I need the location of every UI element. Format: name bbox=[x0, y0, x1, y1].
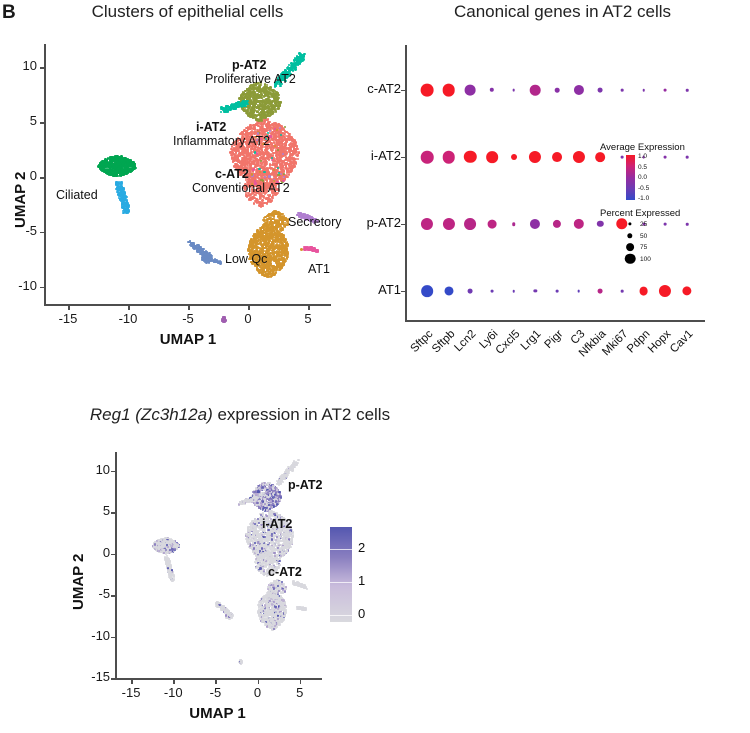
umap1-point bbox=[281, 162, 283, 164]
umap1-y-tick bbox=[40, 232, 44, 234]
umap1-point bbox=[281, 223, 283, 225]
umap1-point bbox=[260, 97, 262, 99]
umap1-point bbox=[270, 144, 272, 146]
umap1-point bbox=[246, 97, 248, 99]
umap1-point bbox=[253, 176, 255, 178]
umap1-point bbox=[246, 88, 248, 90]
umap1-point bbox=[261, 156, 263, 158]
umap1-point bbox=[126, 202, 128, 204]
umap1-point bbox=[278, 101, 280, 103]
umap1-point bbox=[253, 124, 255, 126]
umap1-y-ticklabel: 10 bbox=[0, 58, 37, 73]
umap1-point bbox=[290, 136, 292, 138]
umap1-point bbox=[268, 240, 270, 242]
umap1-point bbox=[284, 254, 286, 256]
umap1-point bbox=[262, 106, 264, 108]
umap1-point bbox=[116, 182, 118, 184]
umap1-point bbox=[267, 170, 269, 172]
umap1-point bbox=[268, 265, 270, 267]
umap1-point bbox=[276, 91, 278, 93]
umap1-point bbox=[244, 105, 246, 107]
umap1-point bbox=[264, 101, 266, 103]
umap1-point bbox=[227, 109, 229, 111]
umap1-y-tick bbox=[40, 122, 44, 124]
umap1-point bbox=[270, 275, 272, 277]
umap1-point bbox=[207, 257, 209, 259]
umap1-point bbox=[266, 110, 268, 112]
umap1-point bbox=[294, 144, 296, 146]
umap1-y-axis-line bbox=[44, 44, 46, 304]
umap1-point bbox=[271, 123, 273, 125]
umap1-point bbox=[269, 222, 271, 224]
umap1-point bbox=[110, 161, 112, 163]
umap1-point bbox=[207, 253, 209, 255]
umap1-point bbox=[125, 196, 127, 198]
umap1-point bbox=[284, 238, 286, 240]
umap1-point bbox=[275, 154, 277, 156]
umap1-point bbox=[307, 246, 309, 248]
umap1-point bbox=[264, 114, 266, 116]
umap1-point bbox=[282, 264, 284, 266]
umap1-point bbox=[284, 130, 286, 132]
umap1-x-tick bbox=[128, 306, 130, 310]
umap1-point bbox=[243, 109, 245, 111]
umap1-point bbox=[254, 114, 256, 116]
umap1-point bbox=[266, 86, 268, 88]
umap1-point bbox=[132, 161, 134, 163]
umap1-point bbox=[123, 191, 125, 193]
umap1-point bbox=[301, 59, 303, 61]
umap1-point bbox=[261, 166, 263, 168]
umap1-y-tick bbox=[40, 287, 44, 289]
umap1-x-tick bbox=[248, 306, 250, 310]
umap1-point bbox=[129, 170, 131, 172]
umap1-x-tick bbox=[308, 306, 310, 310]
umap1-point bbox=[286, 131, 288, 133]
umap1-point bbox=[266, 156, 268, 158]
umap-clusters-plot: 1050-5-10-15-10-505UMAP 1UMAP 2p-AT2Prol… bbox=[0, 0, 375, 380]
umap1-point bbox=[272, 89, 274, 91]
umap1-point bbox=[275, 228, 277, 230]
umap1-point bbox=[286, 241, 288, 243]
umap1-point bbox=[266, 123, 268, 125]
umap1-x-tick bbox=[188, 306, 190, 310]
umap1-point bbox=[231, 156, 233, 158]
umap1-point bbox=[284, 247, 286, 249]
umap1-y-ticklabel: 5 bbox=[0, 113, 37, 128]
umap1-point bbox=[105, 169, 107, 171]
umap1-point bbox=[264, 117, 266, 119]
umap1-point bbox=[256, 111, 258, 113]
umap1-point bbox=[263, 220, 265, 222]
umap1-point bbox=[273, 160, 275, 162]
umap1-point bbox=[264, 216, 266, 218]
umap1-point bbox=[262, 269, 264, 271]
umap1-point bbox=[205, 261, 207, 263]
umap1-point bbox=[311, 247, 313, 249]
umap1-point bbox=[276, 157, 278, 159]
umap1-point bbox=[293, 148, 295, 150]
umap1-x-ticklabel: -5 bbox=[168, 311, 208, 326]
umap1-point bbox=[264, 128, 266, 130]
umap1-point bbox=[244, 161, 246, 163]
umap1-point bbox=[123, 165, 125, 167]
umap1-point bbox=[260, 123, 262, 125]
umap1-point bbox=[259, 119, 261, 121]
umap1-point bbox=[278, 269, 280, 271]
umap1-x-ticklabel: -10 bbox=[108, 311, 148, 326]
umap1-point bbox=[281, 140, 283, 142]
umap1-point bbox=[291, 68, 293, 70]
umap1-point bbox=[295, 148, 297, 150]
umap1-point bbox=[260, 244, 262, 246]
umap1-point bbox=[267, 229, 269, 231]
umap1-point bbox=[313, 249, 315, 251]
umap1-point bbox=[263, 229, 265, 231]
umap1-x-ticklabel: 5 bbox=[288, 311, 328, 326]
umap1-point bbox=[300, 248, 303, 251]
umap1-point bbox=[266, 248, 268, 250]
umap1-point bbox=[286, 176, 288, 178]
umap1-point bbox=[268, 234, 270, 236]
umap1-point bbox=[253, 93, 255, 95]
umap1-point bbox=[252, 116, 254, 118]
umap1-point bbox=[121, 183, 123, 185]
umap1-point bbox=[261, 234, 263, 236]
umap1-point bbox=[110, 156, 112, 158]
umap1-point bbox=[243, 92, 245, 94]
umap1-point bbox=[259, 197, 261, 199]
umap1-point bbox=[129, 163, 131, 165]
umap1-point bbox=[128, 159, 130, 161]
umap1-x-tick bbox=[68, 306, 70, 310]
umap1-point bbox=[304, 248, 306, 250]
umap1-x-ticklabel: -15 bbox=[48, 311, 88, 326]
umap1-point bbox=[278, 221, 280, 223]
umap1-point bbox=[280, 252, 282, 254]
umap1-point bbox=[263, 95, 265, 97]
umap1-point bbox=[249, 94, 251, 96]
umap1-point bbox=[107, 165, 109, 167]
umap1-point bbox=[281, 215, 283, 217]
umap1-point bbox=[268, 158, 270, 160]
umap1-point bbox=[271, 131, 273, 133]
umap1-point bbox=[257, 86, 259, 88]
umap1-point bbox=[290, 146, 292, 148]
umap1-y-tick bbox=[40, 177, 44, 179]
umap1-point bbox=[199, 250, 201, 252]
umap1-point bbox=[292, 139, 294, 141]
umap1-point bbox=[265, 198, 267, 200]
umap1-point bbox=[240, 161, 242, 163]
umap1-point bbox=[259, 105, 261, 107]
umap1-point bbox=[284, 218, 286, 220]
umap1-point bbox=[260, 230, 262, 232]
umap1-point bbox=[239, 155, 241, 157]
umap1-point bbox=[274, 273, 276, 275]
umap1-y-axis-title: UMAP 2 bbox=[12, 171, 29, 227]
umap1-point bbox=[197, 248, 199, 250]
umap1-point bbox=[106, 161, 108, 163]
umap1-point bbox=[266, 202, 268, 204]
umap1-point bbox=[270, 92, 272, 94]
umap1-point bbox=[279, 104, 281, 106]
umap1-point bbox=[220, 111, 222, 113]
umap1-point bbox=[282, 227, 284, 229]
umap1-point bbox=[111, 173, 113, 175]
umap1-point bbox=[254, 96, 256, 98]
umap1-point bbox=[278, 248, 280, 250]
umap1-point bbox=[267, 237, 269, 239]
umap1-point bbox=[237, 103, 239, 105]
umap1-point bbox=[114, 175, 116, 177]
umap1-point bbox=[272, 245, 274, 247]
umap1-point bbox=[271, 112, 273, 114]
umap1-point bbox=[112, 166, 114, 168]
umap1-point bbox=[302, 54, 304, 56]
umap1-point bbox=[273, 100, 275, 102]
umap1-point bbox=[260, 116, 262, 118]
umap1-point bbox=[119, 166, 121, 168]
umap1-point bbox=[248, 157, 250, 159]
umap1-point bbox=[102, 161, 104, 163]
umap1-point bbox=[294, 63, 296, 65]
umap1-point bbox=[248, 198, 250, 200]
umap1-point bbox=[201, 256, 203, 258]
umap1-point bbox=[284, 142, 286, 144]
umap1-point bbox=[257, 119, 259, 121]
umap1-point bbox=[243, 157, 245, 159]
umap1-point bbox=[259, 100, 261, 102]
umap1-point bbox=[103, 165, 105, 167]
umap1-point bbox=[275, 252, 277, 254]
umap1-point bbox=[286, 162, 288, 164]
umap1-point bbox=[249, 128, 251, 130]
umap1-y-tick bbox=[40, 67, 44, 69]
umap1-point bbox=[265, 161, 267, 163]
umap1-point bbox=[297, 64, 299, 66]
umap1-point bbox=[267, 102, 269, 104]
umap1-point bbox=[134, 167, 136, 169]
umap1-point bbox=[122, 188, 124, 190]
umap1-point bbox=[275, 222, 277, 224]
umap1-point bbox=[119, 191, 121, 193]
umap1-point bbox=[256, 163, 258, 165]
umap1-point bbox=[187, 241, 189, 243]
umap1-x-axis-title: UMAP 1 bbox=[38, 331, 338, 348]
umap1-point bbox=[270, 230, 272, 232]
umap1-point bbox=[317, 250, 319, 252]
umap1-point bbox=[123, 173, 125, 175]
umap1-point bbox=[264, 91, 266, 93]
umap1-x-ticklabel: 0 bbox=[228, 311, 268, 326]
umap1-point bbox=[250, 101, 252, 103]
umap1-point bbox=[249, 154, 251, 156]
umap1-point bbox=[117, 193, 119, 195]
umap1-y-ticklabel: -10 bbox=[0, 278, 37, 293]
umap1-point bbox=[268, 245, 270, 247]
umap1-point bbox=[271, 241, 273, 243]
umap1-point bbox=[286, 250, 288, 252]
umap1-point bbox=[250, 244, 252, 246]
umap1-point bbox=[282, 259, 284, 261]
umap1-point bbox=[255, 243, 257, 245]
umap1-point bbox=[241, 105, 243, 107]
umap1-point bbox=[267, 105, 269, 107]
umap1-point bbox=[240, 94, 242, 96]
umap1-point bbox=[273, 268, 275, 270]
umap1-point bbox=[252, 196, 254, 198]
umap1-point bbox=[237, 149, 239, 151]
umap1-point bbox=[252, 107, 254, 109]
umap1-point bbox=[280, 245, 282, 247]
umap1-point bbox=[254, 233, 256, 235]
umap1-point bbox=[265, 223, 267, 225]
umap1-point bbox=[260, 126, 262, 128]
umap1-point bbox=[280, 155, 282, 157]
